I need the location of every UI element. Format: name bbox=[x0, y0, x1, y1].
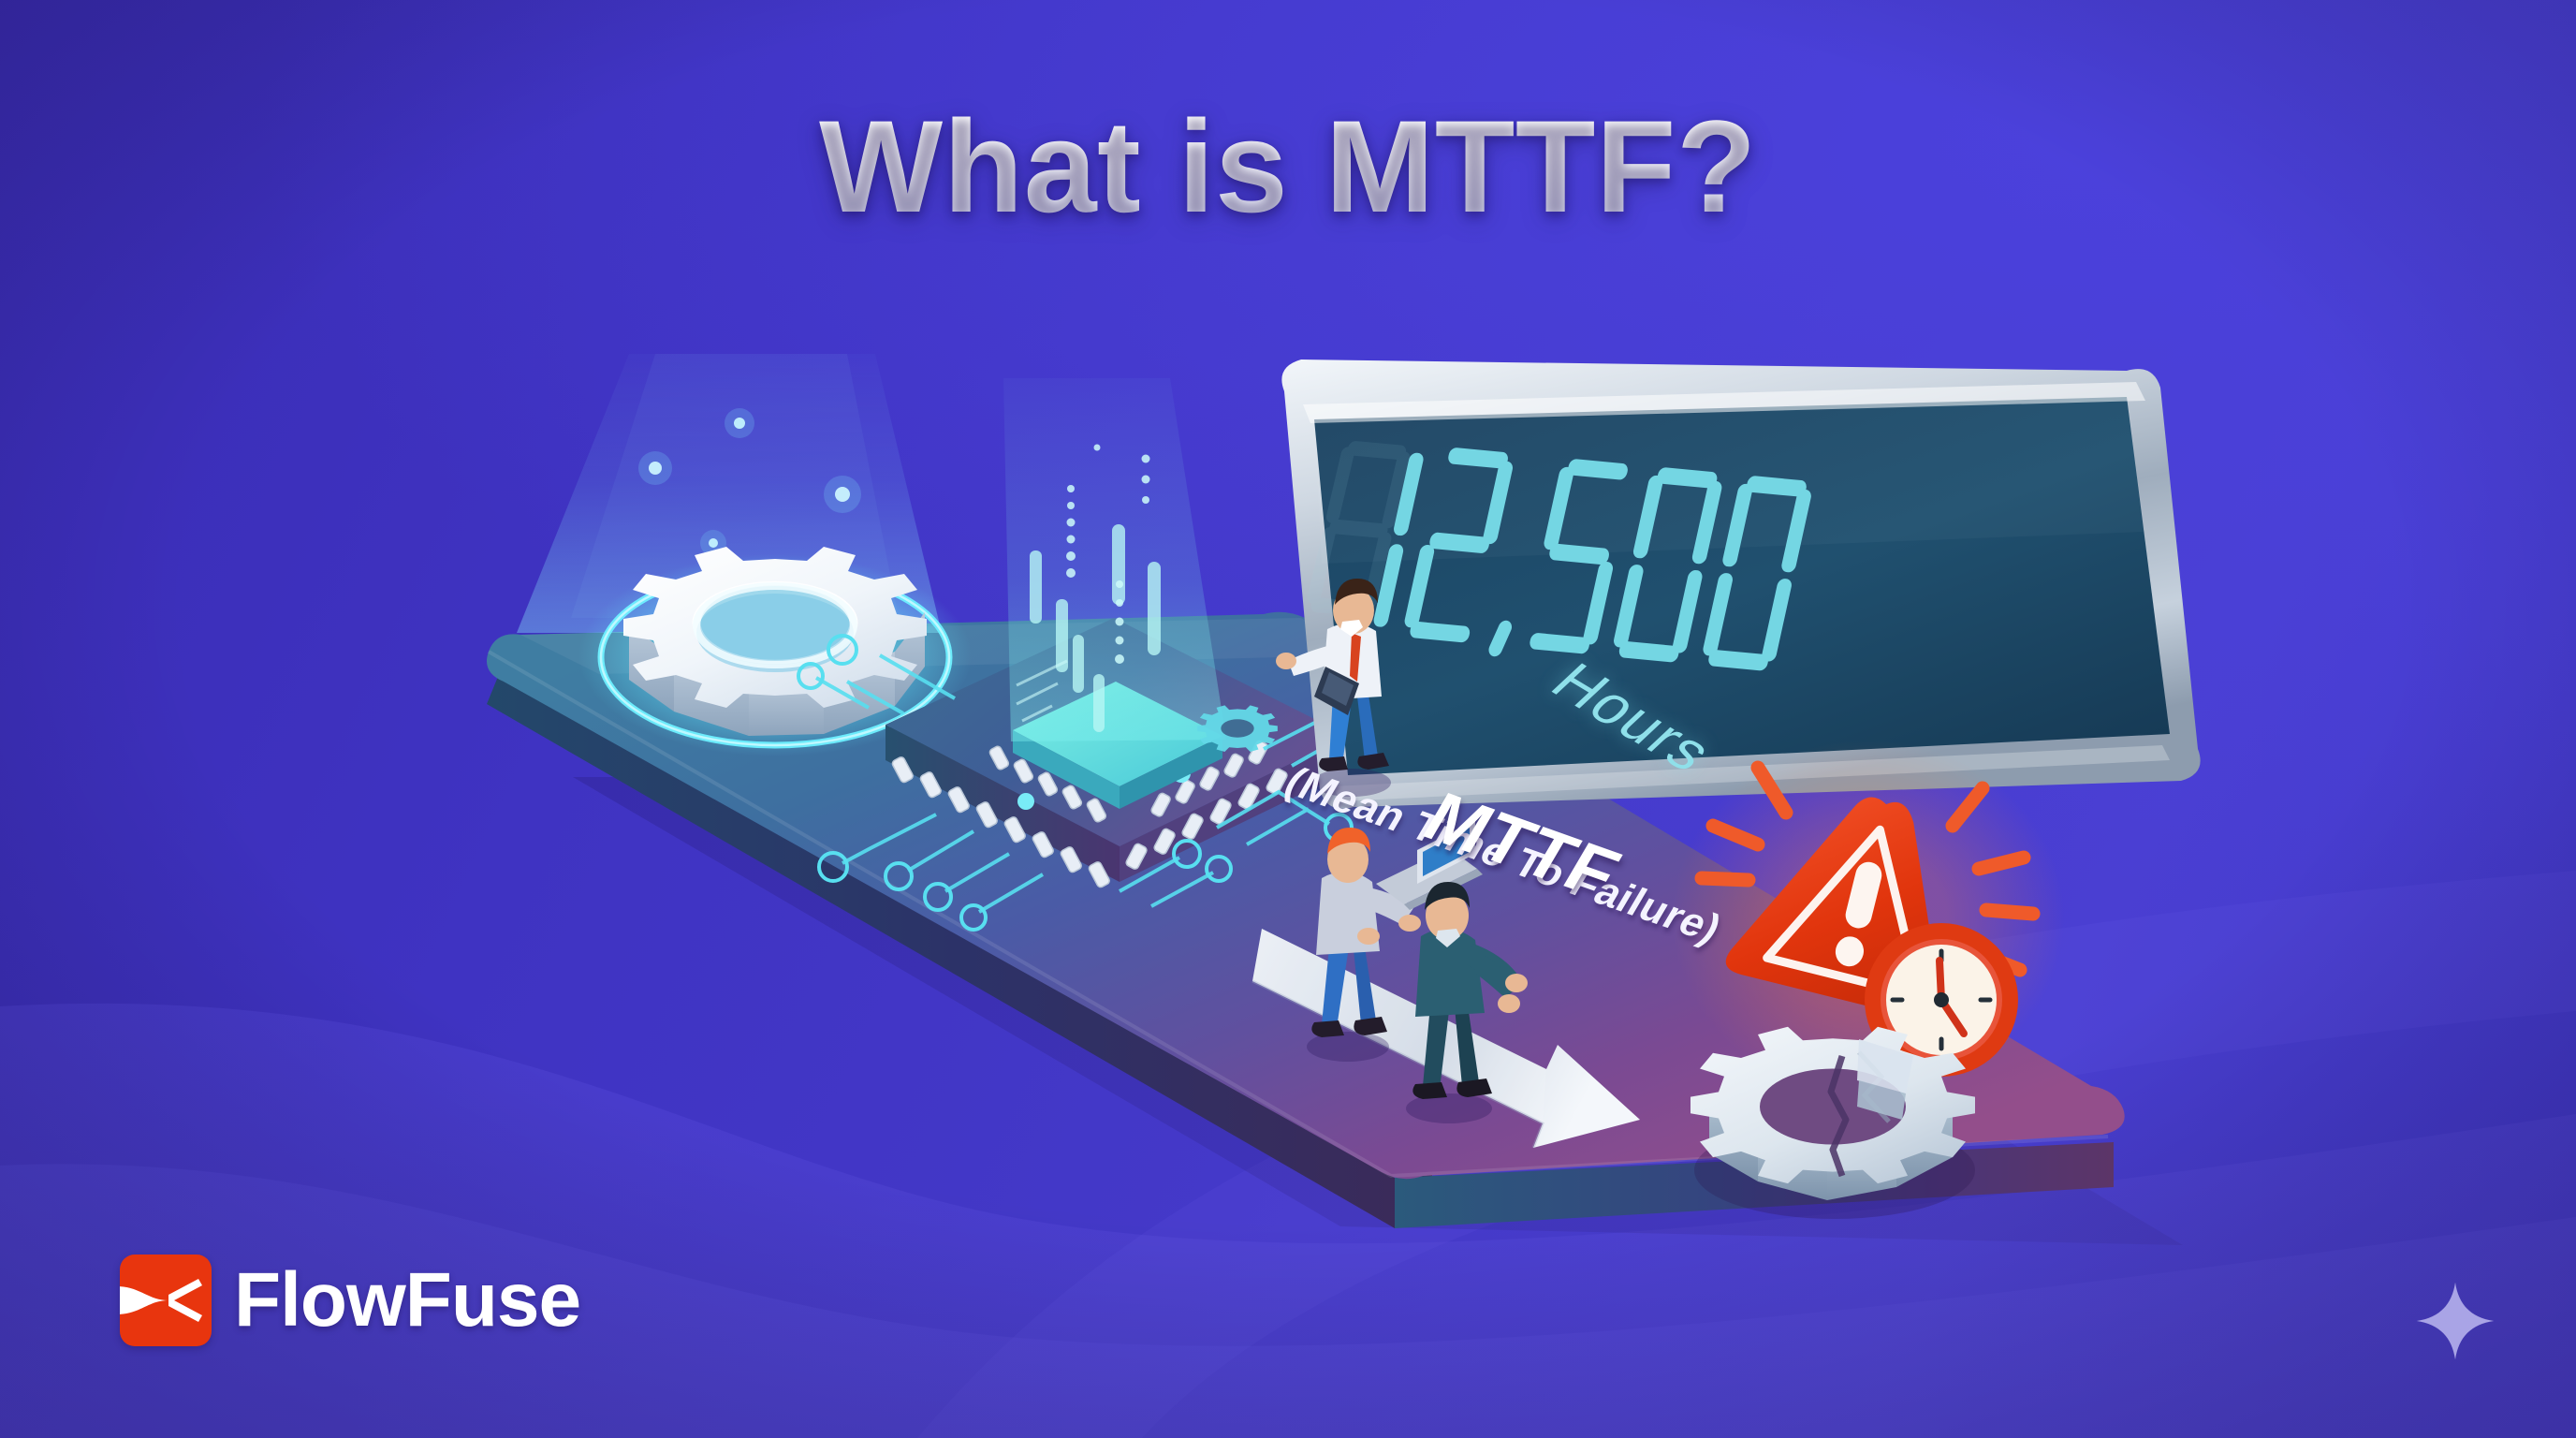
hero-illustration: What is MTTF? bbox=[0, 0, 2576, 1438]
isometric-scene bbox=[0, 0, 2576, 1438]
sparkle-icon bbox=[2415, 1281, 2495, 1361]
flowfuse-mark-icon bbox=[120, 1255, 212, 1346]
digital-display-panel bbox=[1281, 359, 2200, 809]
brand-logo[interactable]: FlowFuse bbox=[120, 1255, 580, 1346]
hologram-beam-icon bbox=[1003, 378, 1226, 741]
brand-name: FlowFuse bbox=[234, 1262, 580, 1339]
